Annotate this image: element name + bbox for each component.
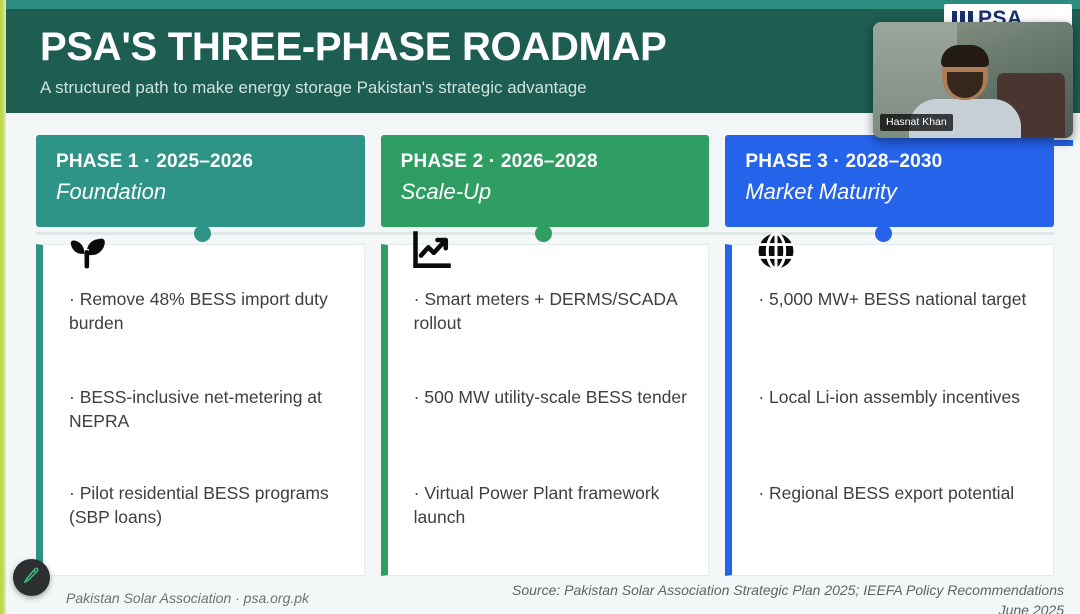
phase-3-label: PHASE 3 · 2028–2030 [745,151,1054,173]
phase-2-bullet-3: · Virtual Power Plant framework launch [414,481,691,579]
phase-3-bullet-1: · 5,000 MW+ BESS national target [758,287,1035,385]
phase-2-label: PHASE 2 · 2026–2028 [401,151,710,173]
header-top-accent-band [6,0,1080,9]
globe-icon [754,229,798,273]
phase-2-bullet-2: · 500 MW utility-scale BESS tender [414,385,691,481]
phase-content-card-1: · Remove 48% BESS import duty burden · B… [36,244,365,576]
phase-header-card-3[interactable]: PHASE 3 · 2028–2030 Market Maturity [725,135,1054,227]
phase-1-bullet-list: · Remove 48% BESS import duty burden · B… [69,287,346,579]
phase-1-bullet-1: · Remove 48% BESS import duty burden [69,287,346,385]
timeline-dot-phase-1 [194,225,211,242]
phase-1-bullet-3: · Pilot residential BESS programs (SBP l… [69,481,346,579]
footer-source-line-2: June 2025 [512,600,1064,614]
phase-2-name: Scale-Up [401,179,710,205]
phase-header-card-1[interactable]: PHASE 1 · 2025–2026 Foundation [36,135,365,227]
phase-content-row: · Remove 48% BESS import duty burden · B… [36,244,1054,576]
video-tile-underlay [873,140,1073,146]
pencil-edit-icon [22,566,41,590]
phase-2-bullet-list: · Smart meters + DERMS/SCADA rollout · 5… [414,287,691,579]
phase-3-bullet-list: · 5,000 MW+ BESS national target · Local… [758,287,1035,579]
sprout-icon [65,229,109,273]
timeline-dot-phase-3 [875,225,892,242]
phase-1-label: PHASE 1 · 2025–2026 [56,151,365,173]
phase-content-card-3: · 5,000 MW+ BESS national target · Local… [725,244,1054,576]
phase-header-card-2[interactable]: PHASE 2 · 2026–2028 Scale-Up [381,135,710,227]
phase-3-bullet-3: · Regional BESS export potential [758,481,1035,579]
footer-attribution: Pakistan Solar Association · psa.org.pk [66,590,309,606]
phase-1-bullet-2: · BESS-inclusive net-metering at NEPRA [69,385,346,481]
phase-3-name: Market Maturity [745,179,1054,205]
slide-left-edge-strip [0,0,6,614]
trending-up-chart-icon [410,229,454,273]
presentation-slide: PSA'S THREE-PHASE ROADMAP A structured p… [0,0,1080,614]
video-person-hair [941,45,989,67]
phase-content-card-2: · Smart meters + DERMS/SCADA rollout · 5… [381,244,710,576]
video-participant-tile[interactable]: Hasnat Khan [873,22,1073,138]
phase-1-name: Foundation [56,179,365,205]
footer-source: Source: Pakistan Solar Association Strat… [512,580,1064,614]
phase-3-bullet-2: · Local Li-ion assembly incentives [758,385,1035,481]
timeline-dot-phase-2 [535,225,552,242]
footer-source-line-1: Source: Pakistan Solar Association Strat… [512,580,1064,600]
phase-2-bullet-1: · Smart meters + DERMS/SCADA rollout [414,287,691,385]
video-participant-name: Hasnat Khan [880,114,953,131]
edit-annotate-button[interactable] [13,559,50,596]
phase-header-row: PHASE 1 · 2025–2026 Foundation PHASE 2 ·… [36,135,1054,227]
